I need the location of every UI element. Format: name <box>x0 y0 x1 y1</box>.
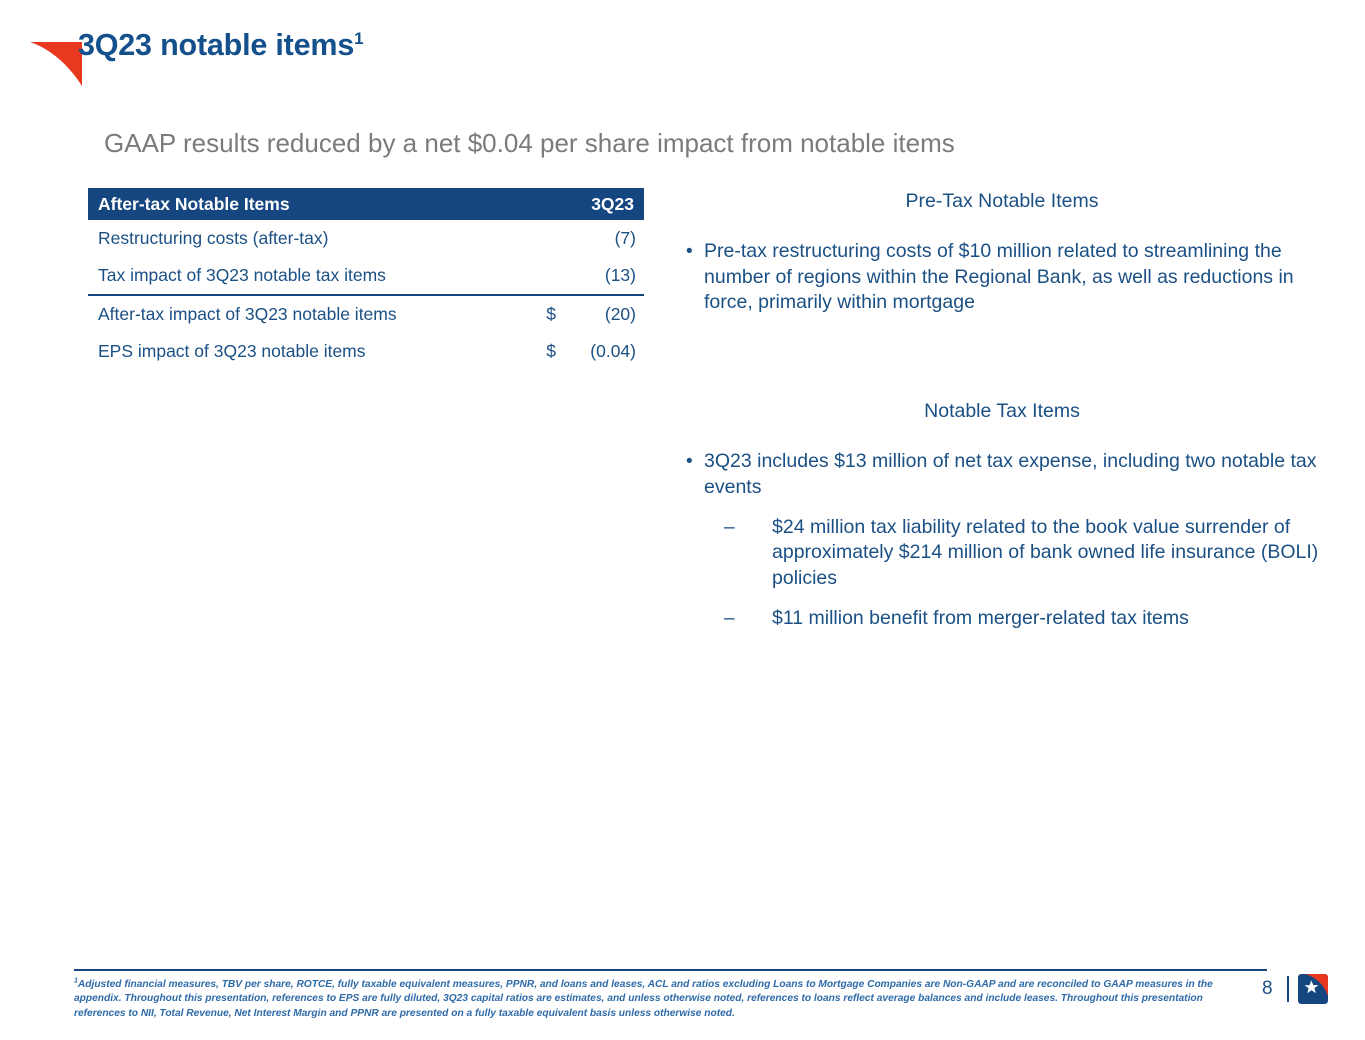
after-tax-notable-items-table: After-tax Notable Items 3Q23 Restructuri… <box>88 188 644 370</box>
list-item-text: Pre-tax restructuring costs of $10 milli… <box>704 239 1332 316</box>
list-item-text: 3Q23 includes $13 million of net tax exp… <box>704 449 1332 500</box>
page-title-text: 3Q23 notable items <box>78 28 354 62</box>
notable-items-commentary: Pre-Tax Notable Items • Pre-tax restruct… <box>672 190 1332 638</box>
sub-list-item-text: $24 million tax liability related to the… <box>772 515 1332 592</box>
table-cell-value: (20) <box>560 295 644 333</box>
tax-section-heading: Notable Tax Items <box>672 400 1332 423</box>
footer-divider <box>74 969 1267 971</box>
table-row: Tax impact of 3Q23 notable tax items (13… <box>88 257 644 295</box>
table-row: EPS impact of 3Q23 notable items $ (0.04… <box>88 333 644 370</box>
pretax-section-heading: Pre-Tax Notable Items <box>672 190 1332 213</box>
table-cell-value: (13) <box>560 257 644 295</box>
page-title-superscript: 1 <box>354 29 363 48</box>
table-cell-label: EPS impact of 3Q23 notable items <box>88 333 522 370</box>
table-header-value: 3Q23 <box>560 188 644 220</box>
table-row-subtotal: After-tax impact of 3Q23 notable items $… <box>88 295 644 333</box>
page-subtitle: GAAP results reduced by a net $0.04 per … <box>104 128 955 159</box>
dash-bullet-icon: – <box>724 515 772 540</box>
section-spacer <box>672 322 1332 400</box>
list-item: • Pre-tax restructuring costs of $10 mil… <box>672 239 1332 316</box>
table-cell-currency <box>522 220 560 257</box>
page-number-divider <box>1287 976 1289 1002</box>
bullet-point-icon: • <box>672 239 704 264</box>
dash-bullet-icon: – <box>724 606 772 631</box>
page-title: 3Q23 notable items1 <box>78 28 363 63</box>
sub-list-item: – $11 million benefit from merger-relate… <box>724 606 1332 632</box>
footnote: 1Adjusted financial measures, TBV per sh… <box>74 978 1244 1021</box>
table-cell-label: Tax impact of 3Q23 notable tax items <box>88 257 522 295</box>
table-cell-currency <box>522 257 560 295</box>
table-cell-currency: $ <box>522 333 560 370</box>
table-cell-value: (7) <box>560 220 644 257</box>
table-cell-value: (0.04) <box>560 333 644 370</box>
table-cell-label: After-tax impact of 3Q23 notable items <box>88 295 522 333</box>
table-header-label: After-tax Notable Items <box>88 188 560 220</box>
list-item: • 3Q23 includes $13 million of net tax e… <box>672 449 1332 500</box>
sub-list-item: – $24 million tax liability related to t… <box>724 515 1332 592</box>
page-number: 8 <box>1262 978 1273 1000</box>
company-logo-icon <box>1298 974 1328 1004</box>
table-row: Restructuring costs (after-tax) (7) <box>88 220 644 257</box>
footnote-text: Adjusted financial measures, TBV per sha… <box>74 979 1213 1019</box>
table-header-row: After-tax Notable Items 3Q23 <box>88 188 644 220</box>
table-cell-currency: $ <box>522 295 560 333</box>
slide-header: 3Q23 notable items1 GAAP results reduced… <box>0 28 1365 90</box>
table-cell-label: Restructuring costs (after-tax) <box>88 220 522 257</box>
sub-list-item-text: $11 million benefit from merger-related … <box>772 606 1332 632</box>
bullet-point-icon: • <box>672 449 704 474</box>
red-sail-accent-icon <box>28 40 84 88</box>
